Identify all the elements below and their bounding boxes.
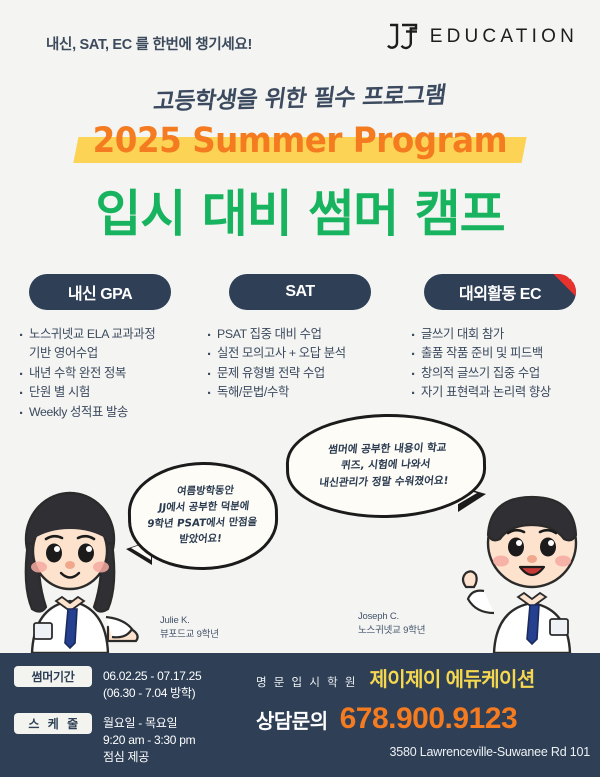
logo-wordmark: EDUCATION	[430, 26, 578, 48]
pill-ec[interactable]: 대외활동 EC NEW	[424, 274, 576, 310]
title-korean: 입시 대비 썸머 캠프	[0, 174, 600, 246]
list-item: 독해/문법/수학	[206, 383, 400, 402]
column-gpa: 내신 GPA 노스귀넷교 ELA 교과과정 기반 영어수업 내년 수학 완전 정…	[0, 274, 200, 422]
address-text: 3580 Lawrenceville-Suwanee Rd 101	[390, 745, 590, 759]
contact-label: 상담문의	[256, 705, 328, 734]
girl-student-illustration	[6, 477, 142, 653]
schedule-line2: 9:20 am - 3:30 pm	[103, 733, 195, 747]
bullet-text: 내년 수학 완전 정복	[29, 366, 126, 380]
footer-info-bar: 썸머기간 06.02.25 - 07.17.25 (06.30 - 7.04 방…	[0, 653, 600, 777]
column-sat: SAT PSAT 집중 대비 수업 실전 모의고사 + 오답 분석 문제 유형별…	[200, 274, 400, 422]
schedule-line1: 월요일 - 목요일	[103, 716, 177, 730]
list-item: 문제 유형별 전략 수업	[206, 364, 400, 383]
bullet-text: 창의적 글쓰기 집중 수업	[421, 366, 540, 380]
list-item: 출품 작품 준비 및 피드백	[410, 344, 600, 363]
schedule-text: 월요일 - 목요일 9:20 am - 3:30 pm 점심 제공	[103, 713, 195, 766]
new-badge: NEW	[538, 274, 576, 309]
schedule-chip: 스 케 줄	[14, 713, 92, 734]
bullet-text: PSAT 집중 대비 수업	[217, 327, 322, 341]
pill-sat-label: SAT	[285, 283, 314, 301]
period-chip: 썸머기간	[14, 666, 92, 687]
brand-logo: EDUCATION	[385, 21, 578, 53]
testimonial-quote-right: 썸머에 공부한 내용이 학교 퀴즈, 시험에 나와서 내신관리가 정말 수워졌어…	[319, 440, 453, 492]
list-item: PSAT 집중 대비 수업	[206, 325, 400, 344]
student-name-left: Julie K.	[160, 614, 219, 628]
list-item: 실전 모의고사 + 오답 분석	[206, 344, 400, 363]
footer-divider	[247, 667, 248, 765]
bullet-text: 문제 유형별 전략 수업	[217, 366, 325, 380]
student-name-right: Joseph C.	[358, 610, 425, 624]
list-item: 노스귀넷교 ELA 교과과정 기반 영어수업	[18, 325, 200, 364]
footer-phone-row: 상담문의 678.900.9123	[256, 702, 590, 736]
list-item: 단원 별 시험	[18, 383, 200, 402]
list-item: 자기 표현력과 논리력 향상	[410, 383, 600, 402]
footer-period-row: 썸머기간 06.02.25 - 07.17.25 (06.30 - 7.04 방…	[14, 666, 201, 702]
bullet-text: 독해/문법/수학	[217, 385, 289, 399]
period-line1: 06.02.25 - 07.17.25	[103, 669, 201, 683]
pill-gpa-label: 내신 GPA	[68, 280, 132, 304]
bullet-list-gpa: 노스귀넷교 ELA 교과과정 기반 영어수업 내년 수학 완전 정복 단원 별 …	[0, 325, 200, 422]
testimonial-caption-right: Joseph C. 노스귀넷교 9학년	[358, 610, 425, 639]
student-school-right: 노스귀넷교 9학년	[358, 624, 425, 638]
pill-sat[interactable]: SAT	[229, 274, 371, 310]
list-item: Weekly 성적표 발송	[18, 403, 200, 422]
period-line2: (06.30 - 7.04 방학)	[103, 686, 195, 700]
list-item: 내년 수학 완전 정복	[18, 364, 200, 383]
jj-monogram-icon	[385, 21, 423, 53]
testimonial-bubble-left: 여름방학동안 JJ에서 공부한 덕분에 9학년 PSAT에서 만점을 받았어요!	[127, 461, 279, 572]
brand-name: 제이제이 에듀케이션	[369, 663, 534, 692]
pill-ec-label: 대외활동 EC	[459, 280, 541, 304]
poster-canvas: 내신, SAT, EC 를 한번에 챙기세요! EDUCATION 고등학생을 …	[0, 0, 600, 777]
testimonial-quote-left: 여름방학동안 JJ에서 공부한 덕분에 9학년 PSAT에서 만점을 받았어요!	[145, 483, 262, 549]
bullet-text: 단원 별 시험	[29, 385, 90, 399]
bullet-text: 노스귀넷교 ELA 교과과정	[29, 327, 155, 341]
schedule-line3: 점심 제공	[103, 750, 149, 764]
title-english: 2025 Summer Program	[82, 121, 519, 161]
bullet-text-cont: 기반 영어수업	[29, 344, 200, 363]
bullet-text: 실전 모의고사 + 오답 분석	[217, 346, 346, 360]
footer-schedule-row: 스 케 줄 월요일 - 목요일 9:20 am - 3:30 pm 점심 제공	[14, 713, 195, 766]
student-school-left: 뷰포드교 9학년	[160, 628, 219, 642]
list-item: 창의적 글쓰기 집중 수업	[410, 364, 600, 383]
list-item: 글쓰기 대회 참가	[410, 325, 600, 344]
bullet-text: 자기 표현력과 논리력 향상	[421, 385, 551, 399]
bullet-list-sat: PSAT 집중 대비 수업 실전 모의고사 + 오답 분석 문제 유형별 전략 …	[200, 325, 400, 403]
column-ec: 대외활동 EC NEW 글쓰기 대회 참가 출품 작품 준비 및 피드백 창의적…	[400, 274, 600, 422]
bullet-list-ec: 글쓰기 대회 참가 출품 작품 준비 및 피드백 창의적 글쓰기 집중 수업 자…	[400, 325, 600, 403]
title-english-wrapper: 2025 Summer Program	[0, 121, 600, 161]
program-columns: 내신 GPA 노스귀넷교 ELA 교과과정 기반 영어수업 내년 수학 완전 정…	[0, 274, 600, 422]
bullet-text: 출품 작품 준비 및 피드백	[421, 346, 543, 360]
footer-brand-row: 명 문 입 시 학 원 제이제이 에듀케이션	[256, 663, 590, 692]
period-text: 06.02.25 - 07.17.25 (06.30 - 7.04 방학)	[103, 666, 201, 702]
phone-number[interactable]: 678.900.9123	[340, 702, 518, 736]
bullet-text: 글쓰기 대회 참가	[421, 327, 504, 341]
academy-label: 명 문 입 시 학 원	[256, 674, 357, 690]
header-tagline: 내신, SAT, EC 를 한번에 챙기세요!	[46, 33, 252, 54]
testimonial-caption-left: Julie K. 뷰포드교 9학년	[160, 614, 219, 643]
footer-contact-block: 명 문 입 시 학 원 제이제이 에듀케이션 상담문의 678.900.9123	[256, 663, 590, 736]
pill-gpa[interactable]: 내신 GPA	[29, 274, 171, 310]
bullet-text: Weekly 성적표 발송	[29, 405, 128, 419]
header-script-line: 고등학생을 위한 필수 프로그램	[0, 72, 600, 120]
